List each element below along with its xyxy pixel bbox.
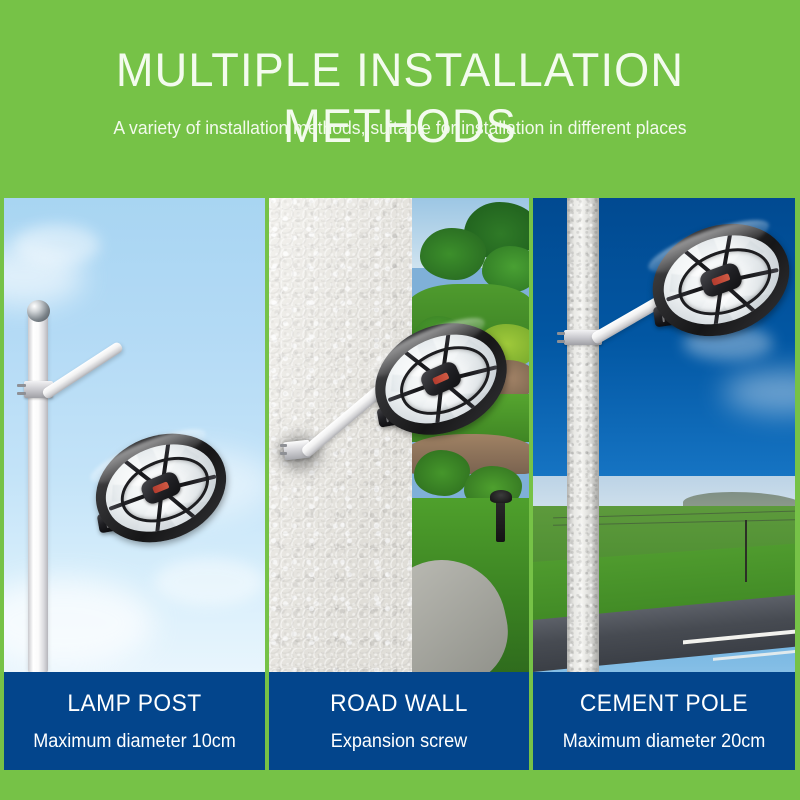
cement-pole: [567, 198, 599, 672]
telephone-pole: [745, 520, 747, 582]
caption-title: CEMENT POLE: [540, 690, 789, 718]
header-banner: MULTIPLE INSTALLATION METHODS A variety …: [0, 0, 800, 198]
caption-subtitle: Expansion screw: [276, 730, 523, 753]
caption-subtitle: Maximum diameter 20cm: [540, 730, 789, 753]
brand-label-icon: [711, 273, 730, 286]
caption-road-wall: ROAD WALL Expansion screw: [269, 672, 529, 770]
clamp-bolt-icon: [17, 384, 26, 387]
installation-card-cement-pole[interactable]: CEMENT POLE Maximum diameter 20cm: [533, 198, 795, 770]
installation-card-road-wall[interactable]: ROAD WALL Expansion screw: [269, 198, 529, 770]
installation-card-lamp-post[interactable]: LAMP POST Maximum diameter 10cm: [4, 198, 265, 770]
brand-label-icon: [152, 481, 170, 494]
flower-shrub: [414, 450, 470, 496]
clamp-bolt-icon: [17, 392, 26, 395]
caption-subtitle: Maximum diameter 10cm: [11, 730, 259, 753]
caption-title: LAMP POST: [11, 690, 259, 718]
caption-cement-pole: CEMENT POLE Maximum diameter 20cm: [533, 672, 795, 770]
garden-lamp-head-icon: [490, 490, 512, 503]
cloud-shape: [14, 224, 100, 266]
brand-label-icon: [432, 372, 450, 386]
garden-lamp-post: [496, 498, 505, 542]
caption-title: ROAD WALL: [276, 690, 523, 718]
pole-ball-cap-icon: [27, 300, 50, 322]
expansion-screw-icon: [280, 452, 287, 455]
scene-road-wall: [269, 198, 529, 672]
clamp-bolt-icon: [557, 332, 565, 335]
scene-cement-pole: [533, 198, 795, 672]
lamp-post-pole: [28, 313, 48, 672]
scene-lamp-post: [4, 198, 265, 672]
clamp-bolt-icon: [557, 340, 565, 343]
expansion-screw-icon: [280, 444, 287, 447]
tree-canopy: [420, 228, 486, 280]
page-subtitle: A variety of installation methods, suita…: [20, 116, 780, 140]
cloud-shape: [154, 558, 264, 606]
product-infographic-poster: MULTIPLE INSTALLATION METHODS A variety …: [0, 0, 800, 800]
caption-lamp-post: LAMP POST Maximum diameter 10cm: [4, 672, 265, 770]
